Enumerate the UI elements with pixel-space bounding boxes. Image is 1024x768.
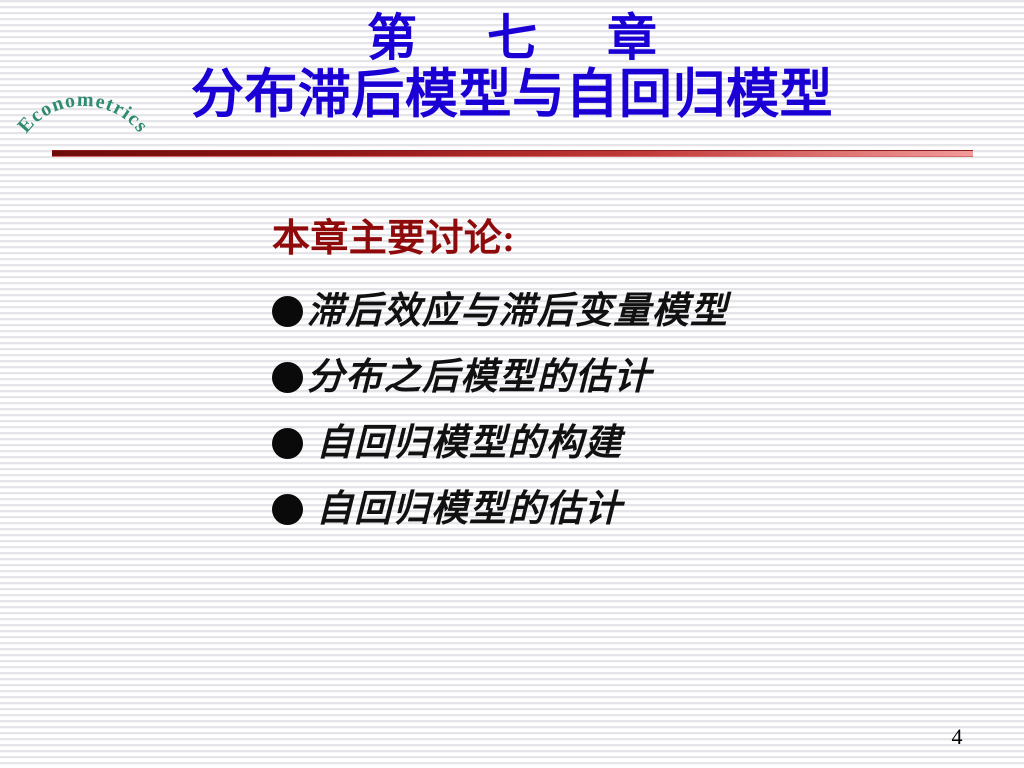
bullet-item-label: 自回归模型的构建 [316, 425, 622, 462]
bullet-list-item: 分布之后模型的估计 [272, 345, 972, 411]
title-divider-line [52, 150, 973, 157]
bullet-list-item: 滞后效应与滞后变量模型 [272, 279, 972, 345]
slide-title: 第 七 章 分布滞后模型与自回归模型 [0, 12, 1024, 123]
slide-body: 本章主要讨论: 滞后效应与滞后变量模型 分布之后模型的估计 自回归模型的构建 自… [272, 218, 972, 543]
bullet-item-label: 自回归模型的估计 [316, 491, 622, 528]
bullet-item-label: 滞后效应与滞后变量模型 [307, 293, 728, 330]
title-line-subject: 分布滞后模型与自回归模型 [0, 67, 1024, 123]
section-heading: 本章主要讨论: [272, 218, 972, 261]
filled-circle-bullet-icon [272, 428, 303, 459]
filled-circle-bullet-icon [272, 296, 303, 327]
filled-circle-bullet-icon [272, 362, 303, 393]
page-number: 4 [930, 726, 984, 748]
bullet-list-item: 自回归模型的估计 [272, 477, 972, 543]
filled-circle-bullet-icon [272, 494, 303, 525]
presentation-slide: Econometrics 第 七 章 分布滞后模型与自回归模型 本章主要讨论: … [0, 0, 1024, 768]
title-line-chapter: 第 七 章 [0, 12, 1024, 65]
bullet-item-label: 分布之后模型的估计 [307, 359, 652, 396]
bullet-list-item: 自回归模型的构建 [272, 411, 972, 477]
